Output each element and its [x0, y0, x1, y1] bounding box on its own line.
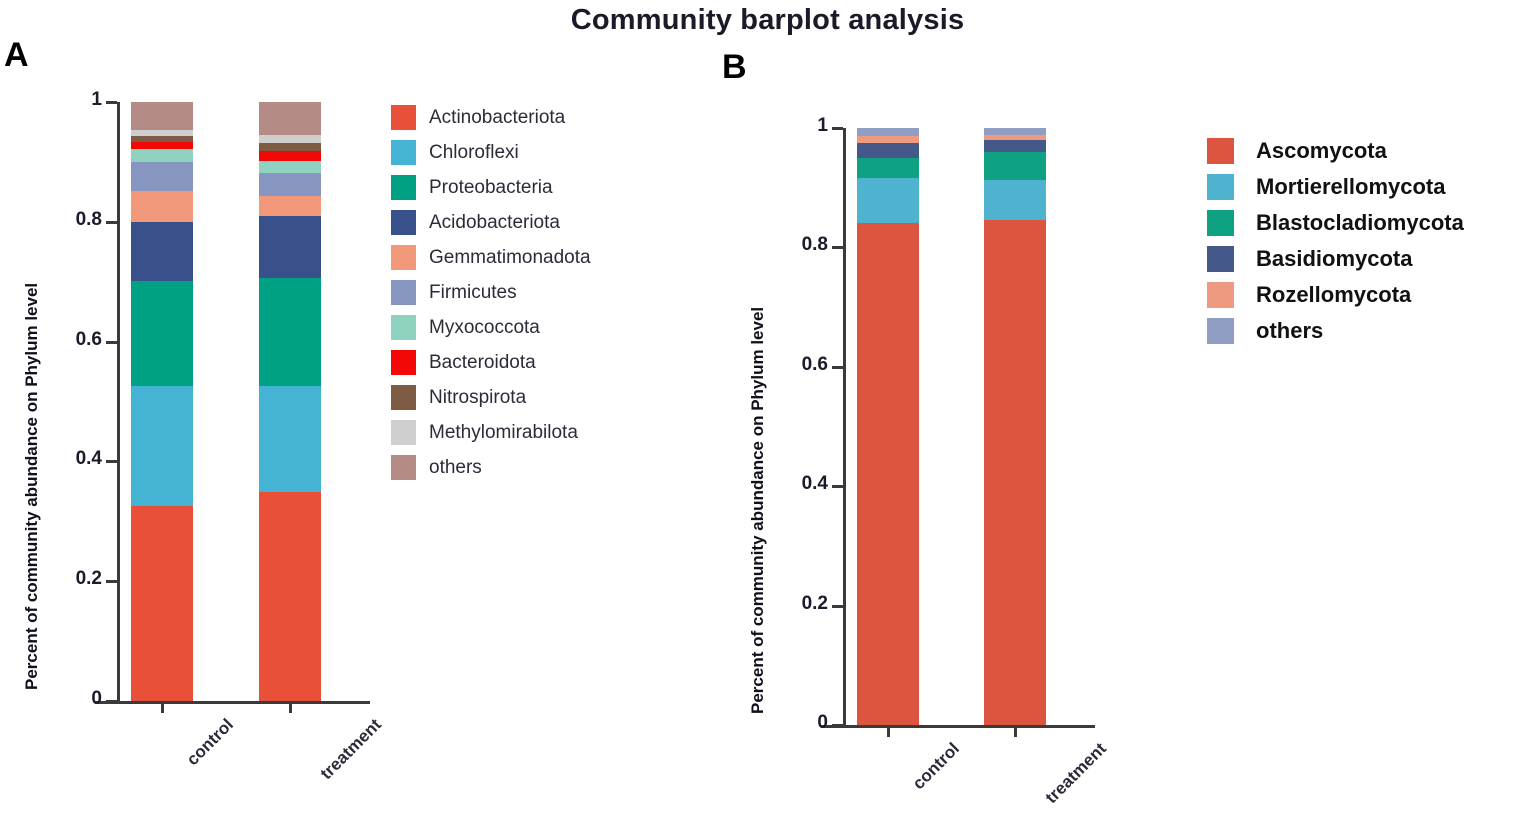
- y-tick-mark: [832, 605, 843, 608]
- legend-color-swatch: [391, 105, 416, 130]
- bar-segment[interactable]: [259, 135, 321, 143]
- bar-segment[interactable]: [131, 142, 193, 149]
- stacked-bar[interactable]: [259, 102, 321, 701]
- bar-segment[interactable]: [857, 223, 919, 725]
- panel-label-b: B: [722, 48, 747, 87]
- bar-segment[interactable]: [984, 220, 1046, 725]
- legend-item-label: Bacteroidota: [429, 352, 536, 374]
- legend-item-label: Chloroflexi: [429, 142, 519, 164]
- bar-segment[interactable]: [984, 180, 1046, 220]
- legend-item-label: Gemmatimonadota: [429, 247, 591, 269]
- bar-segment[interactable]: [259, 196, 321, 216]
- stacked-bar[interactable]: [984, 128, 1046, 725]
- bar-segment[interactable]: [259, 216, 321, 278]
- panel-label-a: A: [4, 36, 29, 75]
- bar-segment[interactable]: [984, 152, 1046, 180]
- y-axis-line: [843, 128, 846, 727]
- x-tick-label: treatment: [317, 715, 386, 784]
- y-tick-label: 0.6: [738, 354, 828, 376]
- legend-item[interactable]: Methylomirabilota: [391, 415, 591, 450]
- x-tick-mark: [289, 704, 292, 713]
- y-tick-mark: [106, 700, 117, 703]
- bar-segment[interactable]: [259, 102, 321, 135]
- legend-item-label: Firmicutes: [429, 282, 517, 304]
- legend-color-swatch: [1207, 138, 1234, 164]
- legend-item-label: Mortierellomycota: [1256, 174, 1446, 200]
- legend-item[interactable]: Basidiomycota: [1207, 241, 1464, 277]
- legend-item-label: Ascomycota: [1256, 138, 1387, 164]
- bar-segment[interactable]: [857, 128, 919, 136]
- y-tick-label: 0: [12, 688, 102, 710]
- bar-segment[interactable]: [857, 143, 919, 158]
- x-tick-label: treatment: [1042, 739, 1111, 808]
- legend-item[interactable]: Firmicutes: [391, 275, 591, 310]
- legend-item-label: Nitrospirota: [429, 387, 526, 409]
- bar-segment[interactable]: [131, 386, 193, 506]
- x-tick-mark: [161, 704, 164, 713]
- y-tick-mark: [832, 485, 843, 488]
- legend-item-label: Blastocladiomycota: [1256, 210, 1464, 236]
- y-tick-label: 0.2: [12, 568, 102, 590]
- y-tick-label: 0.4: [12, 448, 102, 470]
- y-tick-label: 0.8: [738, 234, 828, 256]
- legend-item[interactable]: Gemmatimonadota: [391, 240, 591, 275]
- bar-segment[interactable]: [131, 506, 193, 701]
- y-tick-mark: [832, 366, 843, 369]
- bar-segment[interactable]: [131, 136, 193, 142]
- legend-item[interactable]: Rozellomycota: [1207, 277, 1464, 313]
- legend-panel-b: AscomycotaMortierellomycotaBlastocladiom…: [1207, 133, 1464, 349]
- bar-segment[interactable]: [984, 135, 1046, 140]
- legend-item[interactable]: Myxococcota: [391, 310, 591, 345]
- y-tick-mark: [832, 127, 843, 130]
- bar-segment[interactable]: [857, 178, 919, 223]
- legend-color-swatch: [391, 420, 416, 445]
- y-tick-label: 0.6: [12, 329, 102, 351]
- legend-item[interactable]: others: [391, 450, 591, 485]
- x-axis-line: [95, 701, 370, 704]
- bar-segment[interactable]: [131, 162, 193, 191]
- figure-title: Community barplot analysis: [0, 4, 1535, 37]
- legend-item[interactable]: Mortierellomycota: [1207, 169, 1464, 205]
- legend-item[interactable]: Acidobacteriota: [391, 205, 591, 240]
- legend-item[interactable]: others: [1207, 313, 1464, 349]
- bar-segment[interactable]: [857, 136, 919, 143]
- y-tick-mark: [106, 460, 117, 463]
- bar-segment[interactable]: [131, 130, 193, 135]
- stacked-bar[interactable]: [857, 128, 919, 725]
- legend-item-label: Rozellomycota: [1256, 282, 1411, 308]
- bar-segment[interactable]: [259, 386, 321, 492]
- legend-color-swatch: [1207, 318, 1234, 344]
- bar-segment[interactable]: [259, 278, 321, 386]
- legend-color-swatch: [391, 455, 416, 480]
- x-tick-mark: [1014, 728, 1017, 737]
- stacked-bar[interactable]: [131, 102, 193, 701]
- legend-item-label: Methylomirabilota: [429, 422, 578, 444]
- bar-segment[interactable]: [857, 158, 919, 178]
- x-tick-label: control: [909, 739, 964, 794]
- y-tick-label: 0.2: [738, 593, 828, 615]
- legend-color-swatch: [391, 175, 416, 200]
- legend-color-swatch: [1207, 210, 1234, 236]
- x-tick-label: control: [183, 715, 238, 770]
- legend-item[interactable]: Ascomycota: [1207, 133, 1464, 169]
- y-tick-mark: [106, 221, 117, 224]
- bar-segment[interactable]: [259, 151, 321, 161]
- legend-item[interactable]: Bacteroidota: [391, 345, 591, 380]
- legend-color-swatch: [391, 315, 416, 340]
- y-tick-mark: [106, 580, 117, 583]
- legend-item-label: others: [429, 457, 482, 479]
- legend-item[interactable]: Blastocladiomycota: [1207, 205, 1464, 241]
- legend-item-label: Actinobacteriota: [429, 107, 565, 129]
- bar-segment[interactable]: [259, 161, 321, 173]
- legend-item-label: Myxococcota: [429, 317, 540, 339]
- y-axis-line: [117, 102, 120, 703]
- legend-color-swatch: [1207, 246, 1234, 272]
- bar-segment[interactable]: [259, 173, 321, 196]
- bar-segment[interactable]: [131, 149, 193, 162]
- y-tick-label: 1: [12, 89, 102, 111]
- x-tick-mark: [887, 728, 890, 737]
- bar-segment[interactable]: [131, 281, 193, 386]
- bar-segment[interactable]: [984, 128, 1046, 135]
- bar-segment[interactable]: [131, 191, 193, 222]
- y-tick-label: 1: [738, 115, 828, 137]
- legend-color-swatch: [1207, 282, 1234, 308]
- legend-item[interactable]: Chloroflexi: [391, 135, 591, 170]
- legend-color-swatch: [391, 140, 416, 165]
- legend-color-swatch: [391, 245, 416, 270]
- legend-item[interactable]: Actinobacteriota: [391, 100, 591, 135]
- y-tick-label: 0: [738, 712, 828, 734]
- bar-segment[interactable]: [259, 492, 321, 701]
- legend-item-label: Proteobacteria: [429, 177, 553, 199]
- y-tick-mark: [832, 246, 843, 249]
- legend-color-swatch: [1207, 174, 1234, 200]
- y-tick-mark: [832, 724, 843, 727]
- bar-segment[interactable]: [131, 102, 193, 130]
- legend-item[interactable]: Proteobacteria: [391, 170, 591, 205]
- legend-item-label: Basidiomycota: [1256, 246, 1413, 272]
- legend-color-swatch: [391, 385, 416, 410]
- legend-color-swatch: [391, 350, 416, 375]
- legend-item-label: others: [1256, 318, 1323, 344]
- y-tick-label: 0.4: [738, 473, 828, 495]
- bar-segment[interactable]: [131, 222, 193, 281]
- y-tick-mark: [106, 101, 117, 104]
- y-tick-label: 0.8: [12, 209, 102, 231]
- legend-item[interactable]: Nitrospirota: [391, 380, 591, 415]
- x-axis-line: [821, 725, 1095, 728]
- bar-segment[interactable]: [984, 140, 1046, 152]
- legend-color-swatch: [391, 210, 416, 235]
- y-tick-mark: [106, 341, 117, 344]
- legend-item-label: Acidobacteriota: [429, 212, 560, 234]
- bar-segment[interactable]: [259, 143, 321, 151]
- legend-color-swatch: [391, 280, 416, 305]
- legend-panel-a: ActinobacteriotaChloroflexiProteobacteri…: [391, 100, 591, 485]
